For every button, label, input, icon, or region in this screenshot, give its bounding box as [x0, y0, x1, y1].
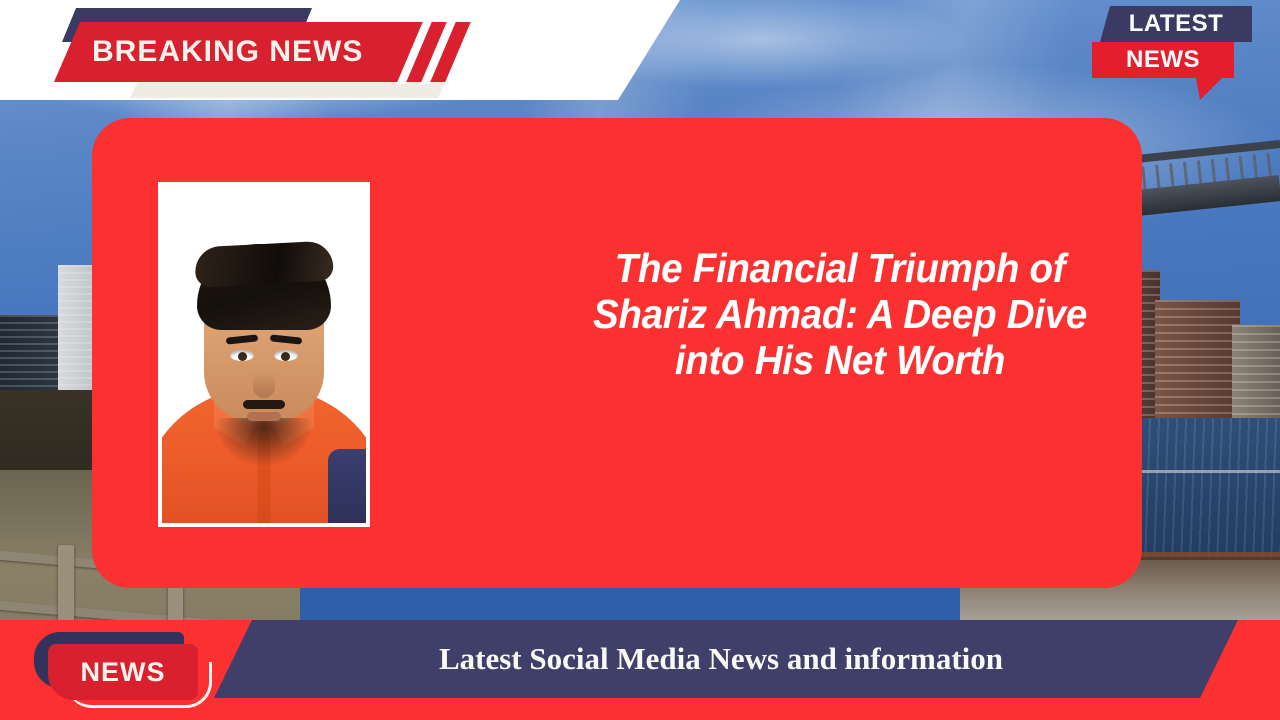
building-right-3	[1232, 325, 1280, 420]
news-logo[interactable]: NEWS	[24, 628, 214, 712]
latest-news-line2: NEWS	[1126, 48, 1200, 72]
portrait-moustache	[243, 400, 285, 409]
window-grid-icon	[1232, 325, 1280, 420]
window-grid-icon	[1155, 300, 1240, 420]
latest-news-top-bar: LATEST	[1100, 6, 1252, 42]
portrait-photo	[162, 186, 366, 523]
bottom-tagline: Latest Social Media News and information	[439, 641, 1003, 677]
portrait-nose	[253, 372, 275, 398]
building-right-2	[1155, 300, 1240, 420]
portrait-hair-sweep	[194, 240, 334, 287]
breaking-news-label: BREAKING NEWS	[92, 35, 363, 69]
breaking-news-banner: BREAKING NEWS	[54, 22, 474, 82]
latest-news-bottom-bar: NEWS	[1092, 42, 1234, 78]
portrait-photo-frame	[158, 182, 370, 527]
portrait-lips	[247, 412, 281, 421]
news-logo-label: NEWS	[81, 657, 166, 688]
latest-news-line1: LATEST	[1129, 12, 1224, 36]
news-graphic-stage: BREAKING NEWS LATEST NEWS	[0, 0, 1280, 720]
main-content-card: The Financial Triumph of Shariz Ahmad: A…	[92, 118, 1142, 588]
headline-text: The Financial Triumph of Shariz Ahmad: A…	[586, 246, 1094, 384]
news-logo-red-shape: NEWS	[48, 644, 198, 700]
portrait-pupil-left	[238, 352, 247, 361]
portrait-pupil-right	[281, 352, 290, 361]
bottom-navy-banner: Latest Social Media News and information	[214, 620, 1238, 698]
portrait-jersey-navy-patch	[328, 449, 366, 523]
latest-news-badge: LATEST NEWS	[1092, 6, 1252, 96]
